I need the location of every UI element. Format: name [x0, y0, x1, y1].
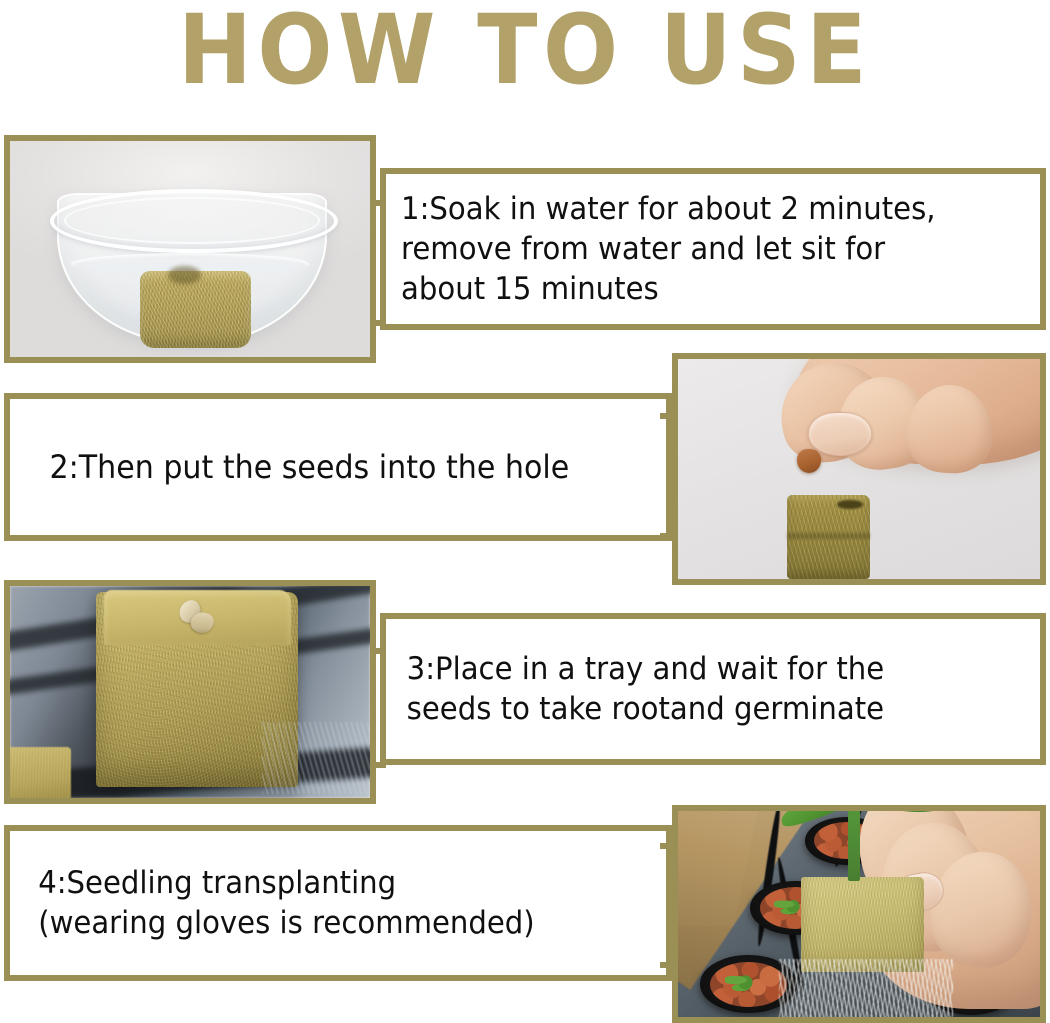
sprouted-seed [179, 601, 215, 631]
page-title: HOW TO USE [42, 2, 1008, 98]
step-3-photo-inner [10, 586, 370, 798]
step-1-photo-inner [10, 141, 370, 357]
rockwool-cube-with-seedling [801, 877, 924, 972]
step-2-text: 2:Then put the seeds into the hole [10, 447, 569, 487]
step-2-text-box: 2:Then put the seeds into the hole [4, 393, 672, 541]
rockwool-plug-seam [787, 533, 870, 540]
rockwool-cube-hole [168, 266, 200, 283]
step-1-text-box: 1:Soak in water for about 2 minutes, rem… [380, 168, 1046, 330]
step-2-photo-hand-with-seed [672, 353, 1046, 585]
rockwool-plug-hole [837, 500, 862, 509]
step-4-photo-seedling-transplant [672, 805, 1046, 1023]
step-2-photo-inner [678, 359, 1040, 579]
step-1-photo-rockwool-soaking-bowl [4, 135, 376, 363]
rockwool-cube [140, 271, 252, 349]
step-4-photo-inner [678, 811, 1040, 1017]
step-3-text-box: 3:Place in a tray and wait for the seeds… [380, 613, 1046, 765]
step-1-text: 1:Soak in water for about 2 minutes, rem… [386, 189, 936, 309]
water-reflection [262, 722, 370, 794]
thumb-nail [808, 412, 872, 456]
white-roots [779, 959, 953, 1017]
small-seedling [774, 897, 805, 915]
seedling-stem [848, 811, 860, 881]
rockwool-cube-adjacent [10, 747, 71, 798]
bowl-inner-rim [64, 197, 320, 244]
small-seedling [725, 972, 758, 992]
step-4-text: 4:Seedling transplanting (wearing gloves… [10, 863, 535, 943]
step-3-photo-germinating-cube [4, 580, 376, 804]
step-3-text: 3:Place in a tray and wait for the seeds… [386, 649, 884, 729]
step-4-text-box: 4:Seedling transplanting (wearing gloves… [4, 825, 672, 981]
